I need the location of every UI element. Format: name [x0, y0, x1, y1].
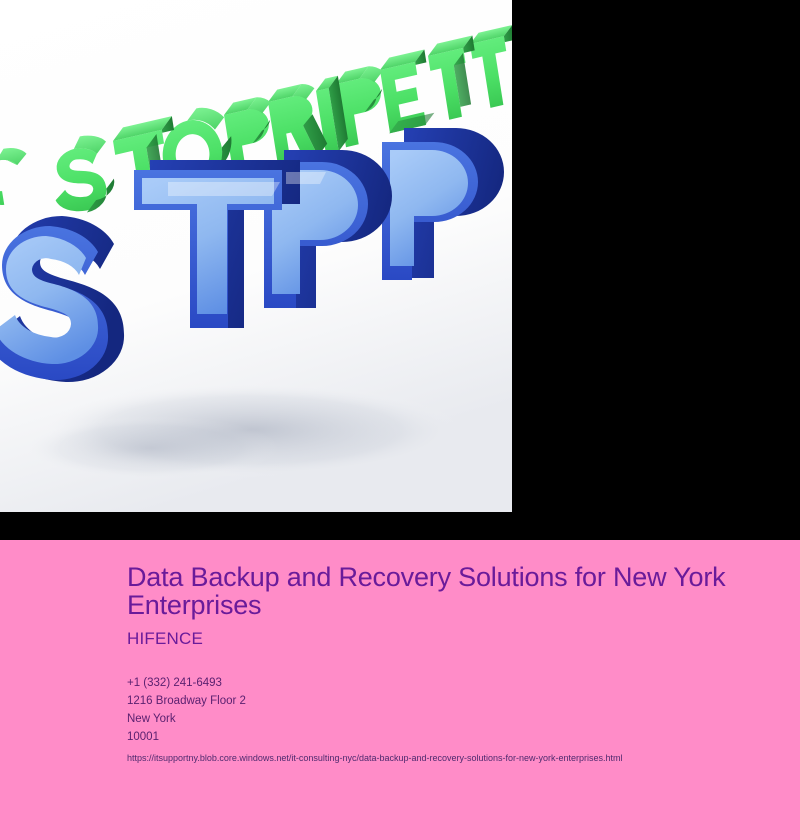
- media-band: [0, 0, 800, 540]
- page-title: Data Backup and Recovery Solutions for N…: [127, 563, 727, 619]
- source-url-link[interactable]: https://itsupportny.blob.core.windows.ne…: [127, 752, 767, 764]
- contact-postal-code: 10001: [127, 728, 767, 746]
- contact-street: 1216 Broadway Floor 2: [127, 692, 767, 710]
- hero-image-artwork: [0, 0, 512, 512]
- info-content: Data Backup and Recovery Solutions for N…: [127, 563, 767, 764]
- contact-phone: +1 (332) 241-6493: [127, 674, 767, 692]
- info-panel: Data Backup and Recovery Solutions for N…: [0, 540, 800, 840]
- hero-image: [0, 0, 512, 512]
- contact-city: New York: [127, 710, 767, 728]
- brand-name: HIFENCE: [127, 629, 767, 649]
- contact-block: +1 (332) 241-6493 1216 Broadway Floor 2 …: [127, 674, 767, 746]
